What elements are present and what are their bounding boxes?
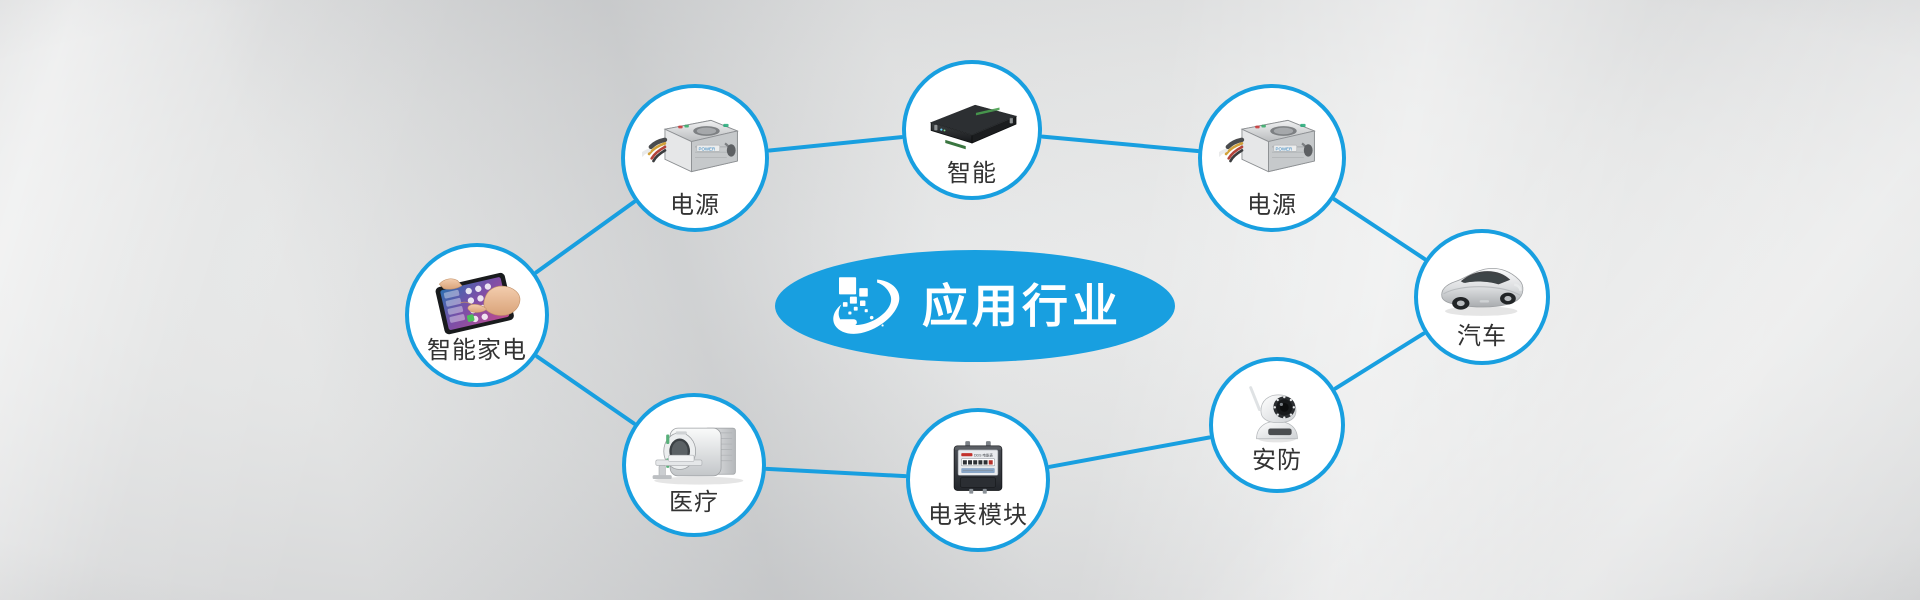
node-meter-module[interactable]: DDS 电能表 — [906, 408, 1050, 552]
node-label: 电源 — [670, 194, 720, 218]
node-label: 智能家电 — [427, 339, 527, 363]
svg-text:DDS 电能表: DDS 电能表 — [974, 452, 993, 457]
rack-server-icon — [916, 88, 1028, 154]
node-thumbnail — [1418, 253, 1546, 319]
connector-power-supply-right-to-automotive — [1335, 199, 1425, 259]
node-label: 医疗 — [669, 491, 719, 515]
badge-title: 应用行业 — [922, 283, 1122, 329]
node-label: 电表模块 — [928, 504, 1028, 528]
node-smart-home-appliance[interactable]: 智能家电 — [405, 243, 549, 387]
mri-scanner-icon — [644, 417, 744, 487]
node-thumbnail — [1213, 377, 1341, 445]
node-thumbnail — [626, 417, 762, 487]
node-power-supply-left[interactable]: POWER 电源 — [621, 84, 769, 232]
node-thumbnail: POWER — [625, 106, 765, 186]
svg-text:POWER: POWER — [1276, 146, 1293, 151]
svg-text:POWER: POWER — [699, 146, 716, 151]
power-supply-unit-icon: POWER — [1219, 106, 1325, 186]
sports-car-icon — [1432, 253, 1532, 319]
node-label: 智能 — [947, 162, 997, 186]
banner-stage: POWER 电源 — [0, 0, 1920, 600]
node-label: 汽车 — [1457, 325, 1507, 349]
connector-power-supply-left-to-smart — [770, 137, 902, 150]
orbit-pixel-logo-icon — [828, 271, 906, 341]
connector-security-to-meter-module — [1050, 437, 1209, 466]
connector-automotive-to-security — [1336, 334, 1424, 389]
node-thumbnail: POWER — [1202, 106, 1342, 186]
node-medical[interactable]: 医疗 — [622, 393, 766, 537]
node-label: 电源 — [1247, 194, 1297, 218]
node-thumbnail — [409, 269, 545, 337]
node-smart[interactable]: 智能 — [902, 60, 1042, 200]
node-power-supply-right[interactable]: POWER 电源 — [1198, 84, 1346, 232]
node-thumbnail: DDS 电能表 — [910, 430, 1046, 500]
center-badge[interactable]: 应用行业 — [775, 250, 1175, 362]
node-thumbnail — [906, 88, 1038, 154]
tablet-touch-icon — [427, 269, 527, 337]
node-label: 安防 — [1252, 449, 1302, 473]
electricity-meter-icon: DDS 电能表 — [943, 430, 1013, 500]
connector-meter-module-to-medical — [767, 469, 905, 476]
connector-smart-home-appliance-to-power-supply-left — [536, 202, 634, 273]
node-automotive[interactable]: 汽车 — [1414, 229, 1550, 365]
power-supply-unit-icon: POWER — [642, 106, 748, 186]
connector-smart-to-power-supply-right — [1043, 137, 1198, 151]
ip-camera-icon — [1239, 377, 1315, 445]
node-security[interactable]: 安防 — [1209, 357, 1345, 493]
connector-medical-to-smart-home-appliance — [537, 357, 634, 424]
